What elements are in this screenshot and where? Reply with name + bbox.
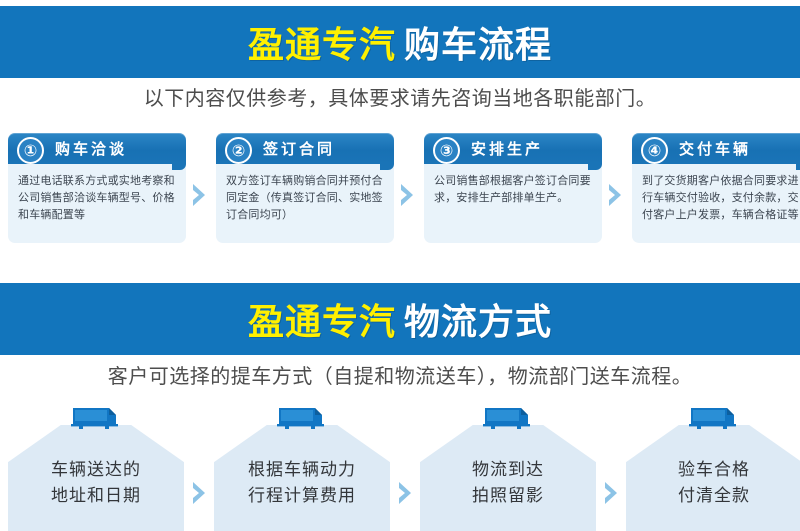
logistics-caption: 客户可选择的提车方式（自提和物流送车），物流部门送车流程。 [0,360,800,389]
step-number-badge-4: ④ [641,137,668,164]
step-number-badge-3: ③ [433,137,460,164]
step-body-4: 到了交货期客户依据合同要求进行车辆交付验收，支付余款，交付客户上户发票，车辆合格… [632,164,800,243]
logistics-line2-1: 地址和日期 [8,483,184,509]
chevron-right-icon-4 [190,481,209,505]
step-title-3: 安排生产 [471,138,543,159]
step-header-4: ④ 交付车辆 [632,133,800,164]
chevron-right-icon-3 [606,183,625,207]
logistics-text-2: 根据车辆动力 行程计算费用 [214,457,390,509]
purchase-process-banner: 盈通专汽 购车流程 [0,6,800,78]
step-body-2: 双方签订车辆购销合同并预付合同定金（传真签订合同、实地签订合同均可） [216,164,394,243]
step-body-3: 公司销售部根据客户签订合同要求，安排生产部排单生产。 [424,164,602,243]
step-header-3: ③ 安排生产 [424,133,602,164]
delivery-truck-icon-1 [69,405,123,431]
step-title-2: 签订合同 [263,138,335,159]
logistics-line2-2: 行程计算费用 [214,483,390,509]
logistics-banner: 盈通专汽 物流方式 [0,283,800,355]
step-number-badge-2: ② [225,137,252,164]
banner-brand-purchase: 盈通专汽 [248,16,396,68]
logistics-text-4: 验车合格 付清全款 [626,457,800,509]
step-title-1: 购车洽谈 [55,138,127,159]
step-number-badge-1: ① [17,137,44,164]
banner-text-group: 盈通专汽 购车流程 [248,16,552,68]
chevron-right-icon-5 [396,481,415,505]
logistics-line1-3: 物流到达 [420,457,596,483]
logistics-line1-2: 根据车辆动力 [214,457,390,483]
step-card-3[interactable]: ③ 安排生产 公司销售部根据客户签订合同要求，安排生产部排单生产。 [424,133,602,243]
logistics-line2-4: 付清全款 [626,483,800,509]
delivery-truck-icon-2 [275,405,329,431]
logistics-text-1: 车辆送达的 地址和日期 [8,457,184,509]
banner-title-logistics: 物流方式 [404,293,552,345]
logistics-line2-3: 拍照留影 [420,483,596,509]
purchase-and-logistics-infographic: 盈通专汽 购车流程 以下内容仅供参考，具体要求请先咨询当地各职能部门。 ① 购车… [0,0,800,531]
logistics-card-3[interactable]: 物流到达 拍照留影 [420,405,596,531]
step-card-1[interactable]: ① 购车洽谈 通过电话联系方式或实地考察和公司销售部洽谈车辆型号、价格和车辆配置… [8,133,186,243]
logistics-line1-1: 车辆送达的 [8,457,184,483]
banner-brand-logistics: 盈通专汽 [248,293,396,345]
step-card-4[interactable]: ④ 交付车辆 到了交货期客户依据合同要求进行车辆交付验收，支付余款，交付客户上户… [632,133,800,243]
step-card-2[interactable]: ② 签订合同 双方签订车辆购销合同并预付合同定金（传真签订合同、实地签订合同均可… [216,133,394,243]
purchase-steps-row: ① 购车洽谈 通过电话联系方式或实地考察和公司销售部洽谈车辆型号、价格和车辆配置… [0,133,800,248]
chevron-right-icon-1 [190,183,209,207]
logistics-text-3: 物流到达 拍照留影 [420,457,596,509]
logistics-steps-row: 车辆送达的 地址和日期 根据车辆动力 行程计算费用 [0,405,800,531]
step-title-4: 交付车辆 [679,138,751,159]
delivery-truck-icon-3 [481,405,535,431]
logistics-line1-4: 验车合格 [626,457,800,483]
logistics-card-1[interactable]: 车辆送达的 地址和日期 [8,405,184,531]
step-header-1: ① 购车洽谈 [8,133,186,164]
banner-title-purchase: 购车流程 [404,16,552,68]
banner-text-group-logistics: 盈通专汽 物流方式 [248,293,552,345]
step-header-2: ② 签订合同 [216,133,394,164]
purchase-caption: 以下内容仅供参考，具体要求请先咨询当地各职能部门。 [0,82,800,111]
logistics-card-2[interactable]: 根据车辆动力 行程计算费用 [214,405,390,531]
logistics-card-4[interactable]: 验车合格 付清全款 [626,405,800,531]
chevron-right-icon-6 [602,481,621,505]
step-body-1: 通过电话联系方式或实地考察和公司销售部洽谈车辆型号、价格和车辆配置等 [8,164,186,243]
delivery-truck-icon-4 [687,405,741,431]
chevron-right-icon-2 [398,183,417,207]
